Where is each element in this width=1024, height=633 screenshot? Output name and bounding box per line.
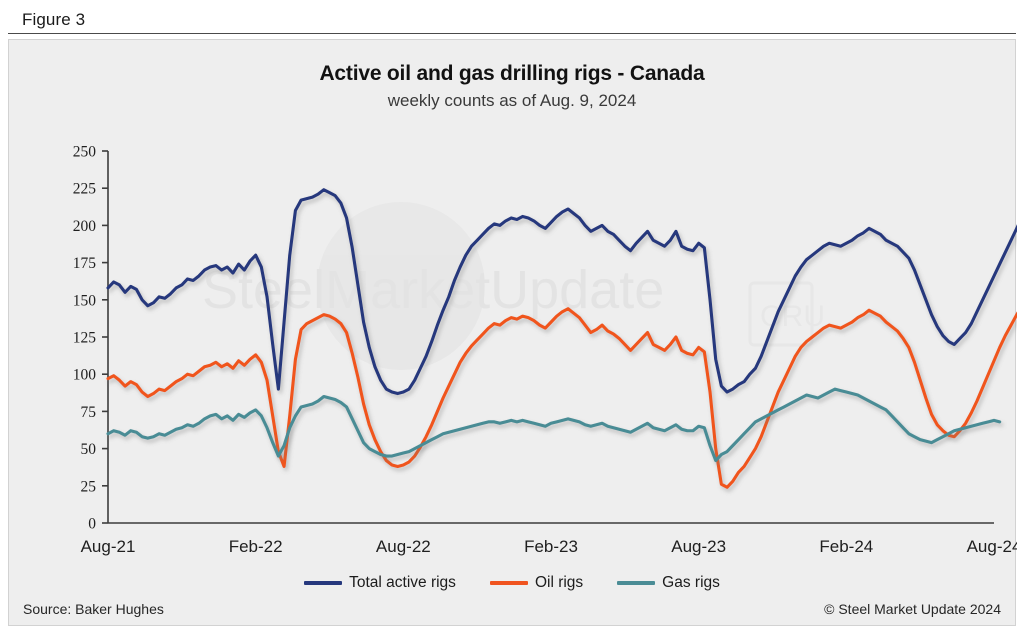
svg-text:CRU: CRU [760, 300, 825, 333]
legend-item-oil[interactable]: Oil rigs [490, 574, 583, 592]
svg-text:Aug-22: Aug-22 [376, 537, 431, 556]
svg-text:50: 50 [81, 441, 97, 458]
figure-label: Figure 3 [22, 10, 85, 30]
chart-legend: Total active rigs Oil rigs Gas rigs [9, 574, 1015, 592]
svg-text:Aug-23: Aug-23 [671, 537, 726, 556]
svg-text:200: 200 [73, 218, 97, 235]
legend-label-total: Total active rigs [349, 574, 456, 592]
svg-text:SteelMarketUpdate: SteelMarketUpdate [202, 260, 664, 320]
svg-text:100: 100 [73, 367, 97, 384]
plot-area: SteelMarketUpdateCRU02550751001251501752… [9, 40, 1017, 627]
watermark: SteelMarketUpdateCRU [202, 202, 825, 370]
svg-text:250: 250 [73, 144, 97, 161]
legend-swatch-gas [617, 581, 655, 585]
svg-text:Feb-23: Feb-23 [524, 537, 578, 556]
source-text: Source: Baker Hughes [23, 601, 164, 617]
legend-label-oil: Oil rigs [535, 574, 583, 592]
legend-item-total[interactable]: Total active rigs [304, 574, 456, 592]
svg-text:125: 125 [73, 330, 97, 347]
figure-label-bar: Figure 3 [8, 4, 1016, 34]
svg-text:175: 175 [73, 255, 97, 272]
x-axis-ticks: Aug-21Feb-22Aug-22Feb-23Aug-23Feb-24Aug-… [81, 537, 1017, 556]
series-line-gas [108, 389, 1000, 460]
svg-text:Aug-24: Aug-24 [967, 537, 1017, 556]
legend-swatch-total [304, 581, 342, 585]
legend-swatch-oil [490, 581, 528, 585]
line-chart: SteelMarketUpdateCRU02550751001251501752… [9, 40, 1017, 627]
legend-item-gas[interactable]: Gas rigs [617, 574, 720, 592]
y-axis-ticks: 0255075100125150175200225250 [73, 144, 108, 533]
chart-footer: Source: Baker Hughes © Steel Market Upda… [9, 601, 1015, 625]
svg-text:Aug-21: Aug-21 [81, 537, 136, 556]
chart-axes [108, 151, 994, 523]
copyright-text: © Steel Market Update 2024 [824, 601, 1001, 617]
series-line-oil [108, 301, 1017, 487]
legend-label-gas: Gas rigs [662, 574, 720, 592]
svg-text:Feb-24: Feb-24 [819, 537, 873, 556]
svg-text:225: 225 [73, 181, 97, 198]
svg-text:Feb-22: Feb-22 [229, 537, 283, 556]
svg-text:25: 25 [81, 478, 97, 495]
chart-panel: Active oil and gas drilling rigs - Canad… [8, 39, 1016, 626]
svg-text:150: 150 [73, 292, 97, 309]
figure-frame: Figure 3 Active oil and gas drilling rig… [0, 0, 1024, 633]
svg-text:75: 75 [81, 404, 97, 421]
svg-text:0: 0 [88, 516, 96, 533]
